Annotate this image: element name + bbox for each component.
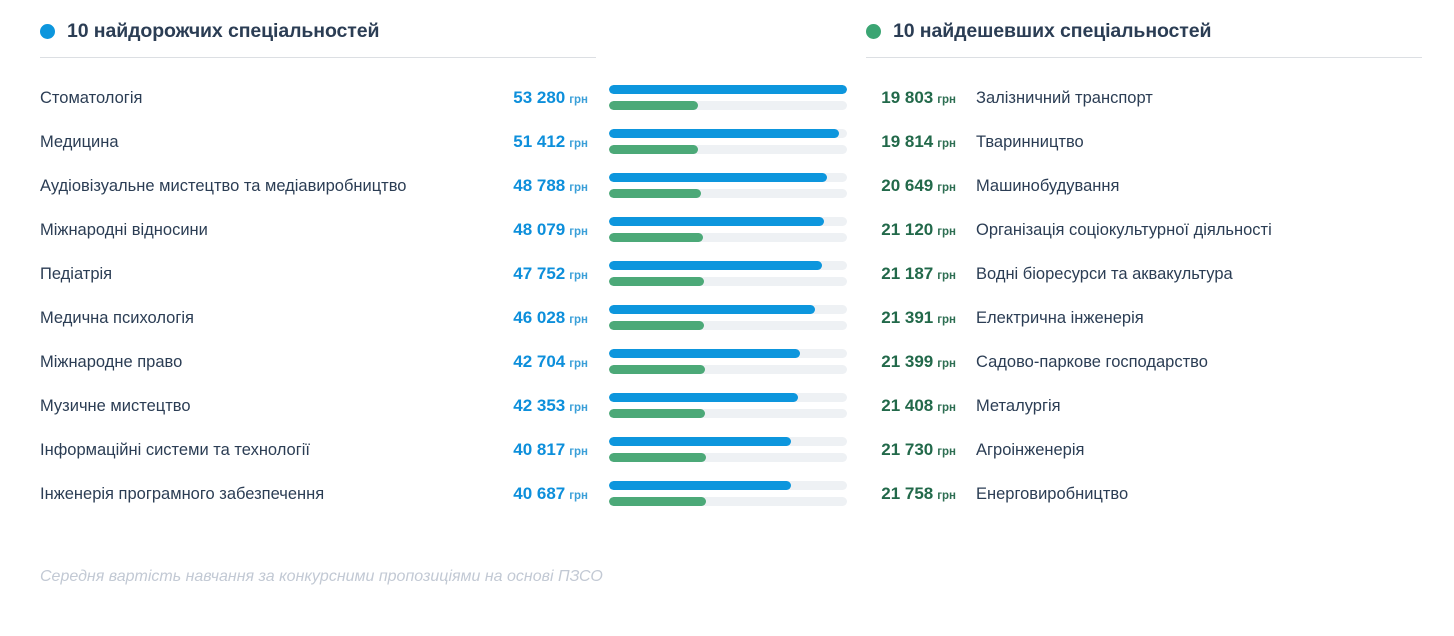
panel-header-most-expensive: 10 найдорожчих спеціальностей [40, 14, 596, 48]
currency-label: грн [569, 402, 588, 414]
price-amount: 51 412 [513, 132, 565, 151]
specialty-name-cheapest: Організація соціокультурної діяльності [976, 208, 1436, 252]
bar-track-expensive [609, 261, 847, 270]
bar-fill-cheapest [609, 321, 704, 330]
currency-label: грн [937, 490, 956, 502]
currency-label: грн [937, 402, 956, 414]
bar-fill-cheapest [609, 189, 701, 198]
price-value-expensive: 40 817грн [440, 428, 588, 472]
currency-label: грн [937, 270, 956, 282]
price-amount: 40 687 [513, 484, 565, 503]
price-value-expensive: 42 704грн [440, 340, 588, 384]
specialty-name-expensive: Аудіовізуальне мистецтво та медіавиробни… [40, 164, 490, 208]
specialty-name-expensive: Медична психологія [40, 296, 490, 340]
specialties-rows: Стоматологія53 280грн19 803грнЗалізнични… [0, 76, 1454, 516]
bar-fill-cheapest [609, 233, 703, 242]
bar-pair [609, 129, 847, 156]
price-value-cheapest: 21 408грн [860, 384, 956, 428]
bar-fill-cheapest [609, 453, 706, 462]
currency-label: грн [937, 94, 956, 106]
currency-label: грн [569, 182, 588, 194]
price-amount: 21 408 [881, 396, 933, 415]
bullet-dot-icon-green [866, 24, 881, 39]
price-amount: 47 752 [513, 264, 565, 283]
specialty-row: Міжнародні відносини48 079грн21 120грнОр… [0, 208, 1454, 252]
currency-label: грн [569, 270, 588, 282]
bar-pair [609, 173, 847, 200]
currency-label: грн [937, 358, 956, 370]
price-value-expensive: 46 028грн [440, 296, 588, 340]
price-value-cheapest: 21 120грн [860, 208, 956, 252]
bar-fill-expensive [609, 349, 800, 358]
bar-track-cheapest [609, 189, 847, 198]
bar-pair [609, 349, 847, 376]
price-amount: 19 803 [881, 88, 933, 107]
bar-pair [609, 261, 847, 288]
panel-header-cheapest: 10 найдешевших спеціальностей [866, 14, 1422, 48]
currency-label: грн [569, 314, 588, 326]
price-amount: 21 187 [881, 264, 933, 283]
currency-label: грн [937, 314, 956, 326]
specialty-row: Медична психологія46 028грн21 391грнЕлек… [0, 296, 1454, 340]
price-value-cheapest: 21 730грн [860, 428, 956, 472]
bar-track-expensive [609, 129, 847, 138]
currency-label: грн [569, 94, 588, 106]
bar-fill-expensive [609, 481, 791, 490]
panel-title-cheapest: 10 найдешевших спеціальностей [893, 20, 1211, 43]
price-value-expensive: 48 788грн [440, 164, 588, 208]
price-amount: 21 730 [881, 440, 933, 459]
bar-fill-expensive [609, 173, 827, 182]
bar-fill-expensive [609, 305, 815, 314]
specialty-name-cheapest: Водні біоресурси та аквакультура [976, 252, 1436, 296]
bar-track-expensive [609, 305, 847, 314]
specialties-cost-board: 10 найдорожчих спеціальностей 10 найдеше… [0, 0, 1454, 636]
header-divider-right [866, 57, 1422, 58]
price-value-expensive: 40 687грн [440, 472, 588, 516]
specialty-name-cheapest: Електрична інженерія [976, 296, 1436, 340]
panel-title-most-expensive: 10 найдорожчих спеціальностей [67, 20, 379, 43]
currency-label: грн [569, 358, 588, 370]
specialty-name-cheapest: Садово-паркове господарство [976, 340, 1436, 384]
specialty-row: Аудіовізуальне мистецтво та медіавиробни… [0, 164, 1454, 208]
specialty-name-expensive: Стоматологія [40, 76, 490, 120]
bar-track-expensive [609, 85, 847, 94]
price-value-expensive: 53 280грн [440, 76, 588, 120]
specialty-row: Стоматологія53 280грн19 803грнЗалізнични… [0, 76, 1454, 120]
price-amount: 46 028 [513, 308, 565, 327]
specialty-name-expensive: Інформаційні системи та технології [40, 428, 490, 472]
bar-pair [609, 85, 847, 112]
specialty-name-expensive: Медицина [40, 120, 490, 164]
specialty-row: Міжнародне право42 704грн21 399грнСадово… [0, 340, 1454, 384]
bar-fill-expensive [609, 393, 798, 402]
currency-label: грн [569, 490, 588, 502]
bar-fill-expensive [609, 129, 839, 138]
specialty-name-expensive: Педіатрія [40, 252, 490, 296]
bar-fill-cheapest [609, 365, 705, 374]
price-amount: 42 353 [513, 396, 565, 415]
price-value-cheapest: 20 649грн [860, 164, 956, 208]
price-amount: 40 817 [513, 440, 565, 459]
currency-label: грн [937, 446, 956, 458]
bar-track-expensive [609, 481, 847, 490]
bar-pair [609, 217, 847, 244]
specialty-name-cheapest: Агроінженерія [976, 428, 1436, 472]
price-amount: 21 120 [881, 220, 933, 239]
price-value-cheapest: 21 187грн [860, 252, 956, 296]
price-value-cheapest: 21 399грн [860, 340, 956, 384]
price-value-expensive: 51 412грн [440, 120, 588, 164]
specialty-row: Інженерія програмного забезпечення40 687… [0, 472, 1454, 516]
specialty-name-cheapest: Металургія [976, 384, 1436, 428]
bar-fill-cheapest [609, 145, 698, 154]
bar-fill-cheapest [609, 101, 698, 110]
specialty-name-expensive: Музичне мистецтво [40, 384, 490, 428]
specialty-row: Медицина51 412грн19 814грнТваринництво [0, 120, 1454, 164]
currency-label: грн [937, 138, 956, 150]
bar-track-expensive [609, 437, 847, 446]
bar-fill-cheapest [609, 277, 704, 286]
bar-track-cheapest [609, 233, 847, 242]
panel-headers: 10 найдорожчих спеціальностей 10 найдеше… [0, 14, 1454, 60]
bar-track-cheapest [609, 277, 847, 286]
bar-pair [609, 305, 847, 332]
header-divider-left [40, 57, 596, 58]
bar-fill-expensive [609, 261, 822, 270]
bar-track-cheapest [609, 145, 847, 154]
specialty-name-expensive: Міжнародне право [40, 340, 490, 384]
bar-fill-expensive [609, 437, 791, 446]
specialty-name-cheapest: Машинобудування [976, 164, 1436, 208]
price-amount: 48 079 [513, 220, 565, 239]
specialty-row: Музичне мистецтво42 353грн21 408грнМетал… [0, 384, 1454, 428]
specialty-name-cheapest: Тваринництво [976, 120, 1436, 164]
bar-track-cheapest [609, 321, 847, 330]
price-value-cheapest: 19 814грн [860, 120, 956, 164]
bar-track-expensive [609, 173, 847, 182]
price-amount: 20 649 [881, 176, 933, 195]
currency-label: грн [569, 138, 588, 150]
currency-label: грн [937, 182, 956, 194]
bar-track-cheapest [609, 365, 847, 374]
currency-label: грн [569, 226, 588, 238]
price-value-cheapest: 21 758грн [860, 472, 956, 516]
bar-fill-cheapest [609, 497, 706, 506]
bar-pair [609, 481, 847, 508]
bar-track-expensive [609, 217, 847, 226]
price-value-expensive: 48 079грн [440, 208, 588, 252]
price-amount: 19 814 [881, 132, 933, 151]
currency-label: грн [569, 446, 588, 458]
price-amount: 42 704 [513, 352, 565, 371]
price-amount: 48 788 [513, 176, 565, 195]
price-amount: 21 391 [881, 308, 933, 327]
footer-caption: Середня вартість навчання за конкурсними… [40, 568, 603, 586]
specialty-row: Інформаційні системи та технології40 817… [0, 428, 1454, 472]
specialty-row: Педіатрія47 752грн21 187грнВодні біоресу… [0, 252, 1454, 296]
bar-track-cheapest [609, 409, 847, 418]
bar-track-cheapest [609, 453, 847, 462]
price-value-cheapest: 21 391грн [860, 296, 956, 340]
price-value-cheapest: 19 803грн [860, 76, 956, 120]
specialty-name-expensive: Інженерія програмного забезпечення [40, 472, 490, 516]
bar-fill-expensive [609, 217, 824, 226]
bar-fill-cheapest [609, 409, 705, 418]
specialty-name-expensive: Міжнародні відносини [40, 208, 490, 252]
bar-track-cheapest [609, 497, 847, 506]
specialty-name-cheapest: Енерговиробництво [976, 472, 1436, 516]
price-amount: 21 399 [881, 352, 933, 371]
bullet-dot-icon-blue [40, 24, 55, 39]
bar-pair [609, 437, 847, 464]
bar-track-expensive [609, 393, 847, 402]
price-value-expensive: 47 752грн [440, 252, 588, 296]
specialty-name-cheapest: Залізничний транспорт [976, 76, 1436, 120]
bar-track-cheapest [609, 101, 847, 110]
price-amount: 53 280 [513, 88, 565, 107]
bar-fill-expensive [609, 85, 847, 94]
price-amount: 21 758 [881, 484, 933, 503]
currency-label: грн [937, 226, 956, 238]
bar-pair [609, 393, 847, 420]
price-value-expensive: 42 353грн [440, 384, 588, 428]
bar-track-expensive [609, 349, 847, 358]
